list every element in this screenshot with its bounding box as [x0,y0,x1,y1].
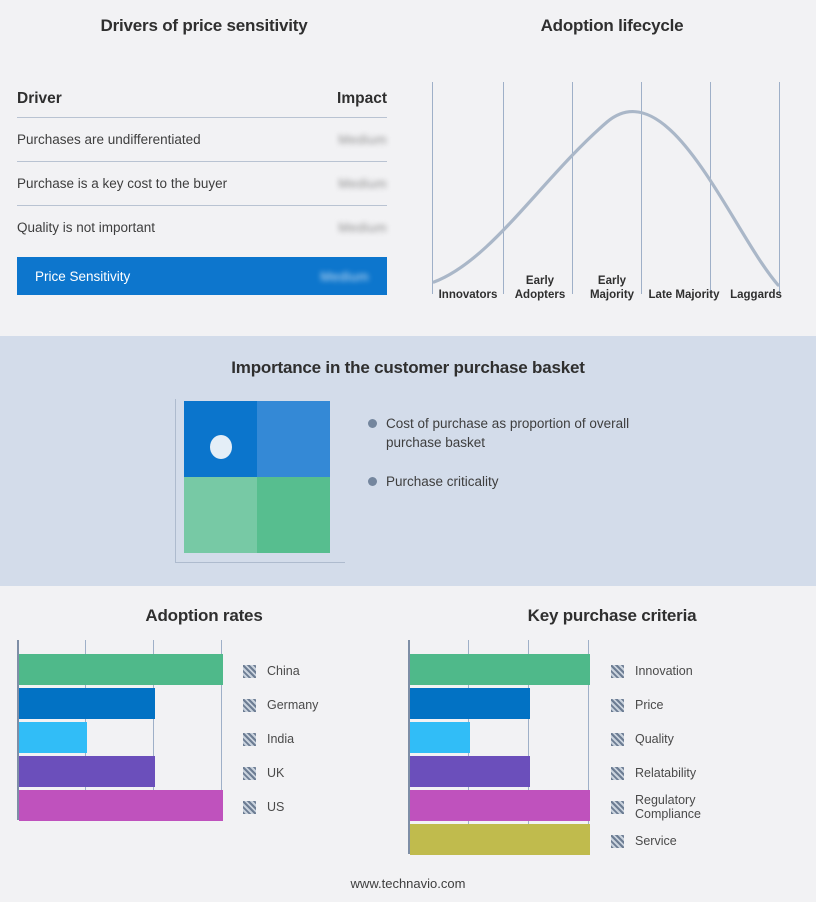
hatch-swatch-icon [611,665,624,678]
purchase-basket-panel: Importance in the customer purchase bask… [0,336,816,586]
top-band: Drivers of price sensitivity Driver Impa… [0,0,816,336]
list-item: Regulatory Compliance [611,790,701,824]
purchase-basket-title: Importance in the customer purchase bask… [0,358,816,378]
legend-label: Germany [267,698,318,712]
legend-label: UK [267,766,284,780]
list-item: Quality [611,722,701,756]
drivers-panel: Drivers of price sensitivity Driver Impa… [0,0,408,336]
impact-value: Medium [338,132,387,147]
adoption-rates-legend: China Germany India UK US [243,654,318,824]
hatch-swatch-icon [243,767,256,780]
list-item: China [243,654,318,688]
drivers-table-header: Driver Impact [17,90,387,117]
price-sensitivity-highlight-row: Price Sensitivity Medium [17,257,387,295]
lifecycle-stage-late-majority: Late Majority [648,270,720,304]
matrix-cells [184,401,330,553]
adoption-rates-chart: China Germany India UK US [17,640,224,820]
bar-rows [410,654,590,858]
legend-label: India [267,732,294,746]
hatch-swatch-icon [611,767,624,780]
matrix-quadrant-top-left [184,401,257,477]
bullet-dot-icon [368,477,377,486]
bar-relatability [410,756,530,787]
bar-price [410,688,530,719]
column-header-impact: Impact [337,90,387,108]
legend-label: Relatability [635,766,696,780]
list-item: Relatability [611,756,701,790]
bar-uk [19,756,155,787]
list-item: US [243,790,318,824]
bar-rows [19,654,223,824]
legend-label: US [267,800,284,814]
lifecycle-stage-early-majority: Early Majority [576,270,648,304]
list-item: Purchase criticality [368,472,668,491]
adoption-rates-title: Adoption rates [0,606,408,626]
key-criteria-title: Key purchase criteria [408,606,816,626]
list-item: Service [611,824,701,858]
bullet-dot-icon [368,419,377,428]
hatch-swatch-icon [611,699,624,712]
hatch-swatch-icon [611,835,624,848]
legend-label: Quality [635,732,674,746]
table-row: Quality is not important Medium [17,205,387,249]
key-criteria-plot [408,640,591,854]
driver-label: Purchases are undifferentiated [17,132,201,147]
hatch-swatch-icon [243,665,256,678]
matrix-quadrant-bottom-left [184,477,257,553]
legend-label: Price [635,698,663,712]
bar-germany [19,688,155,719]
lifecycle-panel: Adoption lifecycle Innovators Early Adop… [408,0,816,336]
bar-innovation [410,654,590,685]
legend-label: Innovation [635,664,693,678]
adoption-rates-plot [17,640,224,820]
matrix-x-axis [175,562,345,563]
matrix-quadrant-bottom-right [257,477,330,553]
infographic-page: Drivers of price sensitivity Driver Impa… [0,0,816,902]
legend-label: Regulatory Compliance [635,793,701,821]
legend-label: Service [635,834,677,848]
lifecycle-stage-innovators: Innovators [432,270,504,304]
quadrant-matrix-chart [175,399,345,569]
driver-label: Purchase is a key cost to the buyer [17,176,227,191]
highlight-impact-value: Medium [320,269,369,284]
lifecycle-stage-early-adopters: Early Adopters [504,270,576,304]
purchase-basket-legend: Cost of purchase as proportion of overal… [368,414,668,511]
impact-value: Medium [338,220,387,235]
impact-value: Medium [338,176,387,191]
highlight-label: Price Sensitivity [35,269,130,284]
hatch-swatch-icon [243,801,256,814]
legend-label: Purchase criticality [386,472,499,491]
list-item: Innovation [611,654,701,688]
driver-label: Quality is not important [17,220,155,235]
list-item: Germany [243,688,318,722]
footer-url: www.technavio.com [0,876,816,891]
hatch-swatch-icon [611,801,624,814]
legend-label: China [267,664,300,678]
bar-service [410,824,590,855]
bar-china [19,654,223,685]
matrix-quadrant-top-right [257,401,330,477]
key-criteria-chart: Innovation Price Quality Relatability Re… [408,640,591,854]
bar-regulatory-compliance [410,790,590,821]
bar-india [19,722,87,753]
hatch-swatch-icon [243,699,256,712]
drivers-title: Drivers of price sensitivity [0,16,408,36]
lifecycle-chart: Innovators Early Adopters Early Majority… [432,82,792,304]
matrix-y-axis [175,399,176,563]
list-item: UK [243,756,318,790]
bar-quality [410,722,470,753]
key-criteria-legend: Innovation Price Quality Relatability Re… [611,654,701,858]
table-row: Purchase is a key cost to the buyer Medi… [17,161,387,205]
matrix-position-marker [210,435,232,459]
list-item: Cost of purchase as proportion of overal… [368,414,668,452]
column-header-driver: Driver [17,90,62,108]
hatch-swatch-icon [243,733,256,746]
list-item: Price [611,688,701,722]
lifecycle-title: Adoption lifecycle [408,16,816,36]
lifecycle-stage-labels: Innovators Early Adopters Early Majority… [432,270,792,304]
lifecycle-stage-laggards: Laggards [720,270,792,304]
list-item: India [243,722,318,756]
hatch-swatch-icon [611,733,624,746]
bell-curve-path [432,82,792,294]
table-row: Purchases are undifferentiated Medium [17,117,387,161]
drivers-table: Driver Impact Purchases are undifferenti… [17,90,387,295]
legend-label: Cost of purchase as proportion of overal… [386,414,646,452]
bar-us [19,790,223,821]
